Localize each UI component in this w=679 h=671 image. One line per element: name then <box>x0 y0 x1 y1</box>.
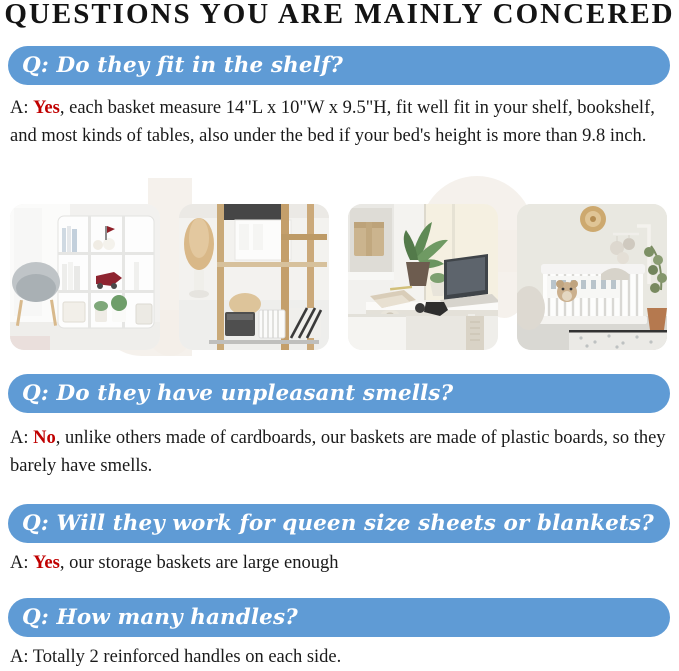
answer-rest-1: , each basket measure 14"L x 10"W x 9.5"… <box>10 98 655 146</box>
question-banner-1[interactable]: Q: Do they fit in the shelf? <box>8 46 670 85</box>
answer-block-2: A: No, unlike others made of cardboards,… <box>10 424 672 480</box>
page-title: QUESTIONS YOU ARE MAINLY CONCERED <box>0 0 679 31</box>
answer-prefix-1: A: <box>10 98 33 118</box>
photo-nursery-crib <box>517 204 667 350</box>
photo-wooden-shelf-pampas <box>179 204 329 350</box>
question-banner-2[interactable]: Q: Do they have unpleasant smells? <box>8 374 670 413</box>
question-banner-4[interactable]: Q: How many handles? <box>8 598 670 637</box>
answer-prefix-2: A: <box>10 428 33 448</box>
answer-rest-3: , our storage baskets are large enough <box>60 553 339 573</box>
question-label-3: Q: Will they work for queen size sheets … <box>8 511 654 536</box>
answer-prefix-3: A: <box>10 553 33 573</box>
answer-block-1: A: Yes, each basket measure 14"L x 10"W … <box>10 94 672 150</box>
answer-block-3: A: Yes, our storage baskets are large en… <box>10 549 672 577</box>
answer-prefix-4: A: Totally 2 reinforced handles on each … <box>10 647 341 667</box>
photo-desk-office <box>348 204 498 350</box>
answer-highlight-3: Yes <box>33 553 60 573</box>
answer-highlight-1: Yes <box>33 98 60 118</box>
question-label-2: Q: Do they have unpleasant smells? <box>8 381 453 406</box>
photo-bookshelf-living-room <box>10 204 160 350</box>
question-banner-3[interactable]: Q: Will they work for queen size sheets … <box>8 504 670 543</box>
question-label-4: Q: How many handles? <box>8 605 298 630</box>
answer-block-4: A: Totally 2 reinforced handles on each … <box>10 643 672 671</box>
photo-strip <box>10 204 669 350</box>
answer-highlight-2: No <box>33 428 56 448</box>
question-label-1: Q: Do they fit in the shelf? <box>8 53 343 78</box>
answer-rest-2: , unlike others made of cardboards, our … <box>10 428 666 476</box>
